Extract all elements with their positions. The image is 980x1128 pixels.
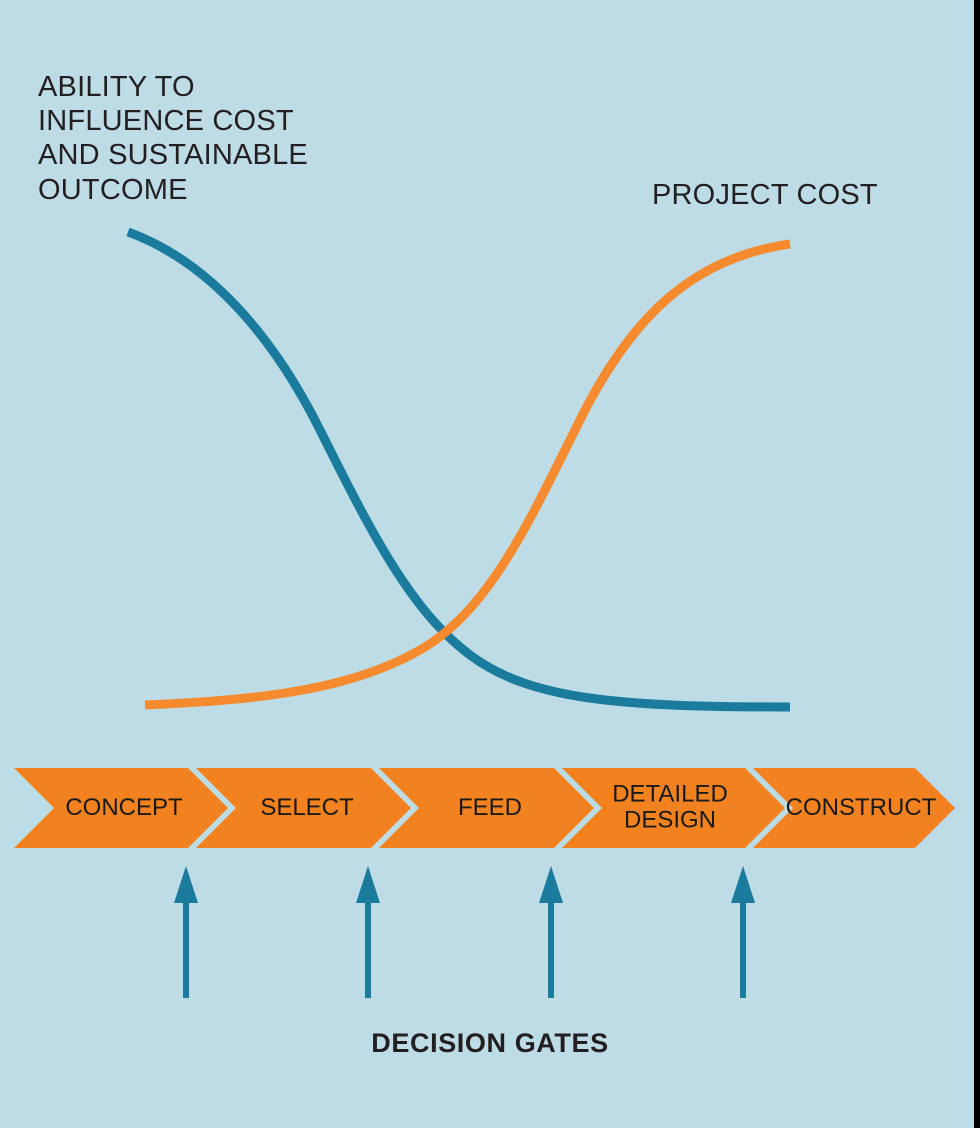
decision-gates-caption: DECISION GATES [0, 1028, 980, 1059]
decision-gate-arrow-2 [356, 866, 380, 998]
decision-gate-arrows [174, 866, 755, 998]
phase-chevron-feed[interactable] [379, 768, 594, 848]
project-cost-label: PROJECT COST [652, 178, 878, 212]
decision-gate-arrow-4 [731, 866, 755, 998]
phase-chevron-bar [14, 768, 955, 848]
diagram-canvas: ABILITY TO INFLUENCE COST AND SUSTAINABL… [0, 0, 980, 1128]
decision-gate-arrow-1 [174, 866, 198, 998]
phase-chevron-select[interactable] [196, 768, 411, 848]
phase-chevron-concept[interactable] [14, 768, 228, 848]
right-edge-band [974, 0, 980, 1128]
decision-gate-arrow-3 [539, 866, 563, 998]
influence-curve-label: ABILITY TO INFLUENCE COST AND SUSTAINABL… [38, 70, 308, 207]
phase-chevron-detailed-design[interactable] [562, 768, 785, 848]
influence-cost-curve [128, 232, 790, 707]
